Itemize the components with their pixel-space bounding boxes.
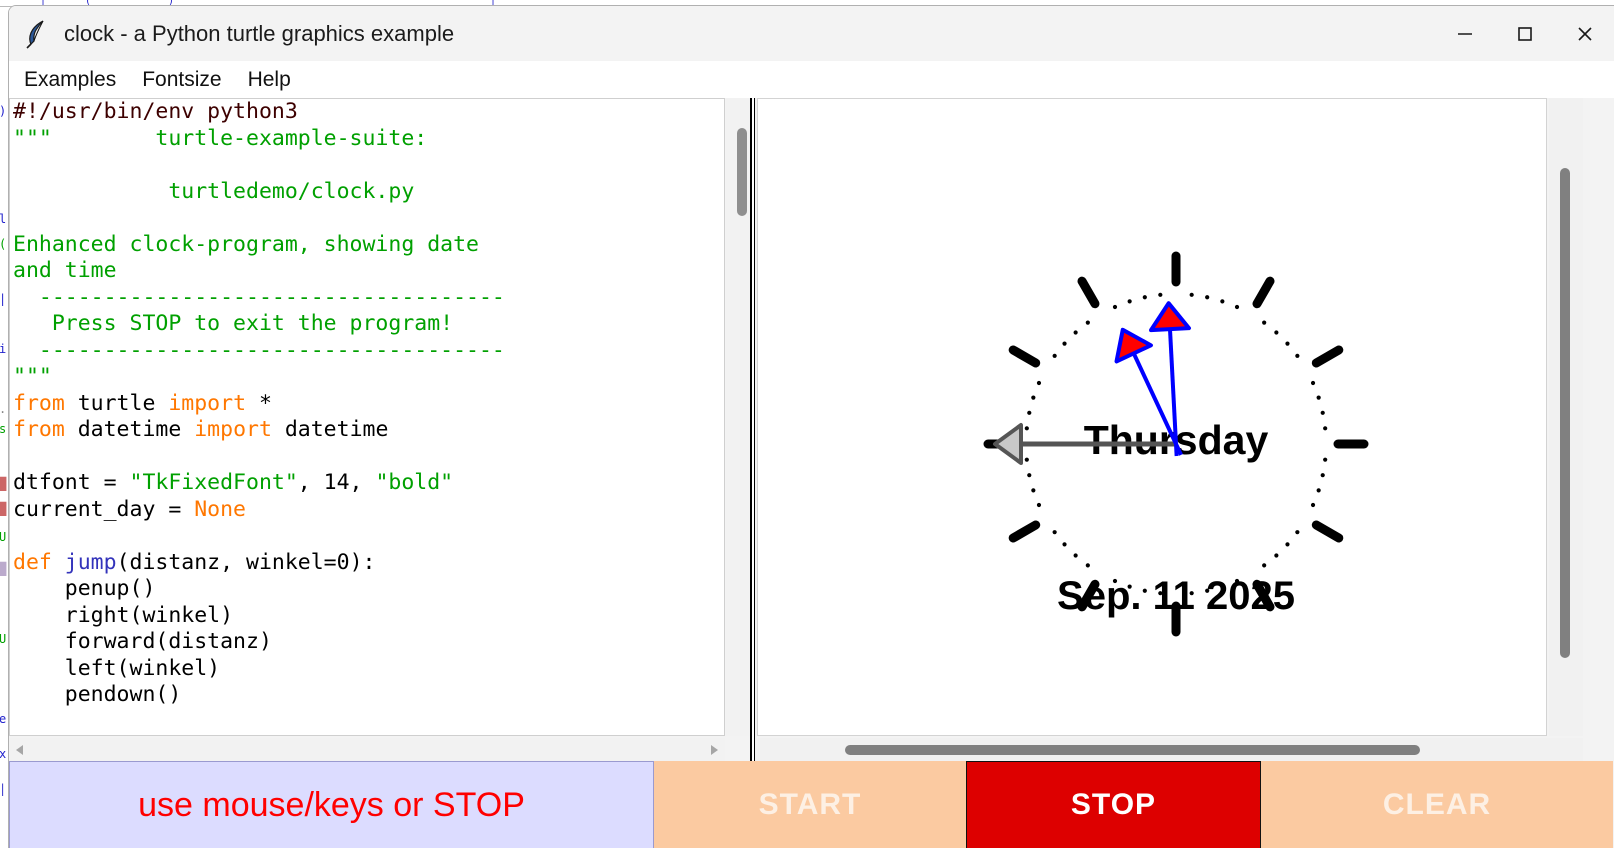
minimize-icon[interactable] — [1435, 6, 1495, 61]
pane-splitter[interactable] — [750, 98, 755, 761]
clock-minute-dot — [1317, 396, 1321, 400]
canvas-vertical-scrollbar-thumb[interactable] — [1560, 168, 1570, 658]
clock-minute-dot — [1311, 381, 1315, 385]
scroll-right-arrow-icon[interactable] — [703, 738, 725, 761]
clock-minute-dot — [1037, 503, 1041, 507]
code-line: Enhanced clock-program, showing date — [13, 232, 505, 259]
source-code-text: #!/usr/bin/env python3""" turtle-example… — [13, 99, 505, 709]
clock-minute-dot — [1074, 553, 1078, 557]
clock-minute-dot — [1285, 342, 1289, 346]
code-line: #!/usr/bin/env python3 — [13, 99, 505, 126]
menu-item-examples[interactable]: Examples — [13, 66, 127, 94]
clock-minute-dot — [1274, 553, 1278, 557]
code-line: ------------------------------------ — [13, 338, 505, 365]
code-line — [13, 152, 505, 179]
close-icon[interactable] — [1555, 6, 1614, 61]
clock-minute-dot — [1190, 293, 1194, 297]
code-line: pendown() — [13, 682, 505, 709]
code-line: right(winkel) — [13, 603, 505, 630]
clock-minute-dot — [1220, 299, 1224, 303]
code-line — [13, 444, 505, 471]
clock-minute-dot — [1031, 488, 1035, 492]
code-horizontal-scrollbar[interactable] — [9, 738, 725, 761]
clock-minute-dot — [1295, 354, 1299, 358]
feather-quill-icon — [24, 19, 50, 49]
code-line: current_day = None — [13, 497, 505, 524]
title-bar[interactable]: clock - a Python turtle graphics example — [9, 6, 1614, 61]
clock-minute-dot — [1262, 563, 1266, 567]
code-line: left(winkel) — [13, 656, 505, 683]
clock-minute-dot — [1128, 299, 1132, 303]
clock-minute-dot — [1062, 542, 1066, 546]
clock-minute-dot — [1323, 426, 1327, 430]
canvas-horizontal-scrollbar[interactable] — [757, 738, 1583, 761]
clock-graphic: Thursday Sep. 11 2025 — [758, 99, 1546, 735]
clock-minute-dot — [1143, 295, 1147, 299]
clock-minute-dot — [1053, 530, 1057, 534]
menu-item-help[interactable]: Help — [237, 66, 302, 94]
clock-minute-dot — [1205, 295, 1209, 299]
clock-minute-dot — [1158, 293, 1162, 297]
clock-minute-dot — [1321, 411, 1325, 415]
clock-hour-mark — [1013, 525, 1036, 538]
clock-hour-mark — [1257, 281, 1270, 304]
clock-date-label: Sep. 11 2025 — [1057, 574, 1295, 618]
code-line: Press STOP to exit the program! — [13, 311, 505, 338]
window-controls — [1435, 6, 1614, 61]
clock-minute-dot — [1053, 354, 1057, 358]
clock-minute-dot — [1262, 321, 1266, 325]
start-button[interactable]: START — [654, 761, 966, 848]
clock-minute-dot — [1062, 342, 1066, 346]
code-vertical-scrollbar-thumb[interactable] — [737, 128, 747, 216]
code-line: dtfont = "TkFixedFont", 14, "bold" — [13, 470, 505, 497]
code-line: from turtle import * — [13, 391, 505, 418]
clock-minute-dot — [1235, 305, 1239, 309]
clock-minute-dot — [1295, 530, 1299, 534]
clock-minute-dot — [1311, 503, 1315, 507]
clock-hour-mark — [1316, 350, 1339, 363]
scroll-left-arrow-icon[interactable] — [9, 738, 31, 761]
application-window: clock - a Python turtle graphics example — [8, 5, 1614, 848]
maximize-icon[interactable] — [1495, 6, 1555, 61]
clock-minute-dot — [1025, 458, 1029, 462]
code-line: forward(distanz) — [13, 629, 505, 656]
code-line: turtledemo/clock.py — [13, 179, 505, 206]
code-line: and time — [13, 258, 505, 285]
clock-minute-dot — [1074, 330, 1078, 334]
canvas-horizontal-scrollbar-thumb[interactable] — [845, 745, 1420, 755]
code-line — [13, 205, 505, 232]
code-line: """ turtle-example-suite: — [13, 126, 505, 153]
turtle-canvas-pane[interactable]: Thursday Sep. 11 2025 — [757, 98, 1547, 736]
menu-item-fontsize[interactable]: Fontsize — [131, 66, 232, 94]
clock-minute-dot — [1037, 381, 1041, 385]
status-message: use mouse/keys or STOP — [9, 761, 654, 848]
stop-button[interactable]: STOP — [966, 761, 1261, 848]
code-line: from datetime import datetime — [13, 417, 505, 444]
source-code-pane[interactable]: #!/usr/bin/env python3""" turtle-example… — [9, 98, 725, 736]
clock-minute-dot — [1274, 330, 1278, 334]
code-line: """ — [13, 364, 505, 391]
clock-minute-dot — [1027, 411, 1031, 415]
clock-minute-dot — [1086, 321, 1090, 325]
clock-hour-mark — [1316, 525, 1339, 538]
bottom-control-bar: use mouse/keys or STOP START STOP CLEAR — [9, 761, 1614, 848]
body-area: #!/usr/bin/env python3""" turtle-example… — [9, 98, 1614, 761]
code-line: def jump(distanz, winkel=0): — [13, 550, 505, 577]
hand-head — [1151, 303, 1189, 330]
clear-button[interactable]: CLEAR — [1261, 761, 1613, 848]
menu-bar: Examples Fontsize Help — [9, 61, 1614, 100]
clock-hour-mark — [1013, 350, 1036, 363]
clock-minute-dot — [1323, 458, 1327, 462]
code-line: ------------------------------------ — [13, 285, 505, 312]
code-line — [13, 523, 505, 550]
clock-minute-dot — [1317, 488, 1321, 492]
hand-head — [995, 425, 1021, 463]
clock-minute-dot — [1031, 396, 1035, 400]
canvas-vertical-scrollbar[interactable] — [1549, 98, 1583, 736]
code-line: penup() — [13, 576, 505, 603]
clock-minute-dot — [1086, 563, 1090, 567]
clock-minute-dot — [1025, 426, 1029, 430]
clock-minute-dot — [1285, 542, 1289, 546]
clock-minute-dot — [1321, 473, 1325, 477]
clock-minute-dot — [1027, 473, 1031, 477]
clock-hour-mark — [1082, 281, 1095, 304]
window-title: clock - a Python turtle graphics example — [64, 21, 454, 47]
clock-minute-dot — [1113, 305, 1117, 309]
